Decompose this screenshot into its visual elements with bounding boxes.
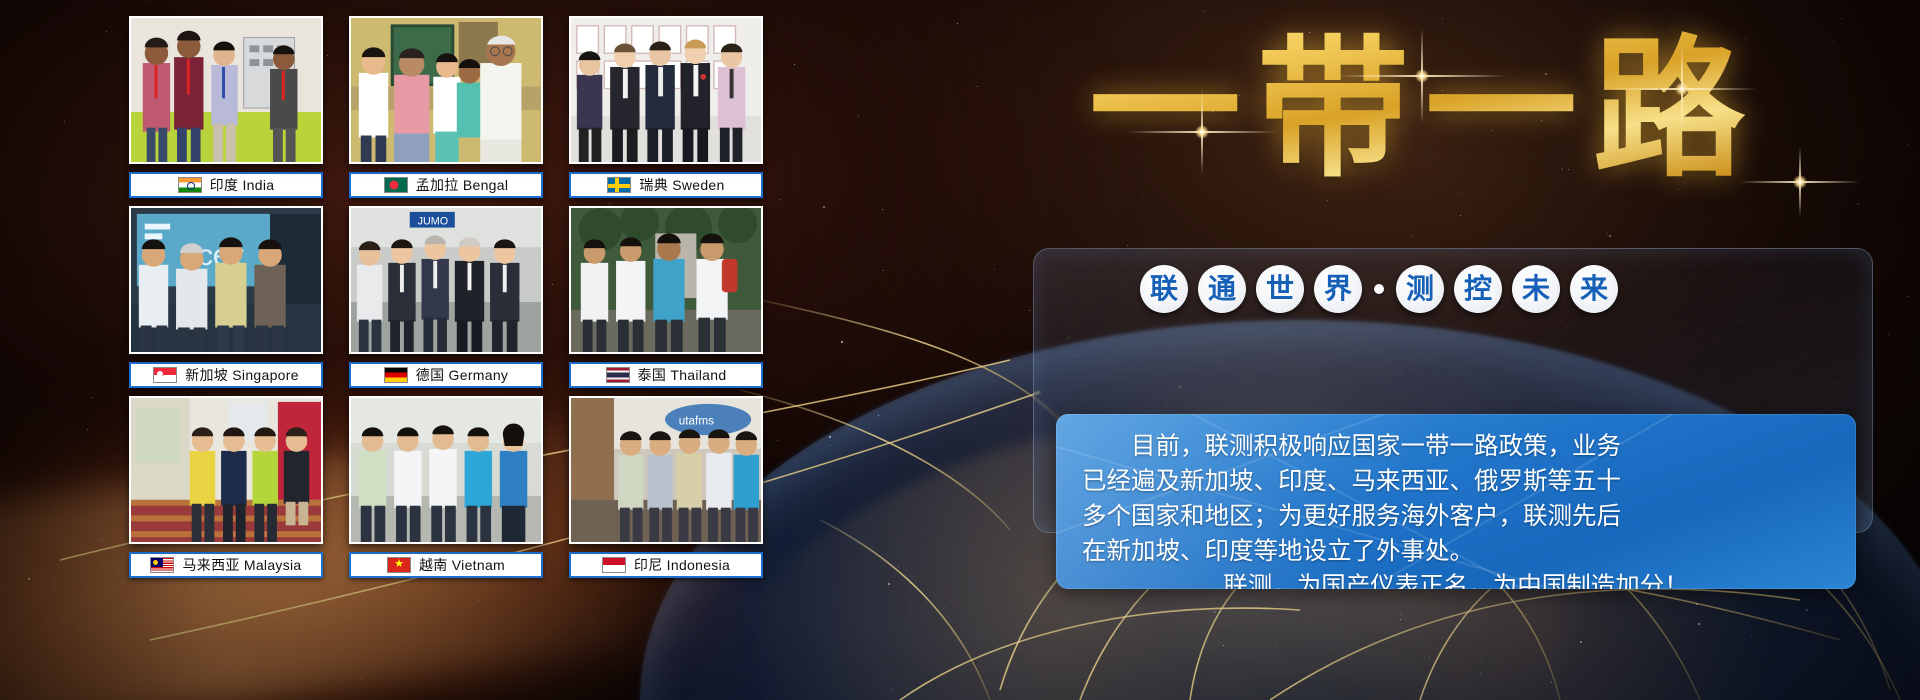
photo-singapore: ecev (129, 206, 323, 354)
caption-thailand[interactable]: 泰国 Thailand (569, 362, 763, 388)
slogan-chip: 控 (1454, 265, 1502, 313)
flag-thailand-icon (606, 367, 630, 383)
description-line-5: 联测，为国产仪表正名，为中国制造加分！ (1082, 568, 1830, 589)
flag-sweden-icon (607, 177, 631, 193)
gallery-item-singapore[interactable]: ecev 新加坡 Singapore (129, 206, 323, 396)
flag-bangladesh-icon (384, 177, 408, 193)
slogan-chip: 未 (1512, 265, 1560, 313)
flag-germany-icon (384, 367, 408, 383)
description-line-3: 多个国家和地区；为更好服务海外客户，联测先后 (1082, 498, 1830, 533)
photo-thailand (569, 206, 763, 354)
slogan-chip: 联 (1140, 265, 1188, 313)
caption-germany[interactable]: 德国 Germany (349, 362, 543, 388)
gallery-item-indonesia[interactable]: utafms 印尼 Indonesia (569, 396, 763, 586)
svg-text:JUMO: JUMO (418, 216, 448, 228)
flag-indonesia-icon (602, 557, 626, 573)
caption-label: 印度 India (210, 175, 275, 195)
slogan-chip: 世 (1256, 265, 1304, 313)
photo-indonesia: utafms (569, 396, 763, 544)
caption-india[interactable]: 印度 India (129, 172, 323, 198)
slogan-chip: 来 (1570, 265, 1618, 313)
svg-text:utafms: utafms (679, 414, 714, 427)
description-line-4: 在新加坡、印度等地设立了外事处。 (1082, 533, 1830, 568)
country-photo-grid: 印度 India 孟加拉 Bengal (129, 16, 763, 586)
gallery-item-india[interactable]: 印度 India (129, 16, 323, 206)
photo-sweden (569, 16, 763, 164)
flag-vietnam-icon (387, 557, 411, 573)
flag-singapore-icon (153, 367, 177, 383)
description-line-2: 已经遍及新加坡、印度、马来西亚、俄罗斯等五十 (1082, 463, 1830, 498)
caption-sweden[interactable]: 瑞典 Sweden (569, 172, 763, 198)
photo-malaysia (129, 396, 323, 544)
description-box: 目前，联测积极响应国家一带一路政策，业务 已经遍及新加坡、印度、马来西亚、俄罗斯… (1056, 414, 1856, 589)
flag-india-icon (178, 177, 202, 193)
photo-bengal (349, 16, 543, 164)
gallery-item-vietnam[interactable]: 越南 Vietnam (349, 396, 543, 586)
flag-malaysia-icon (150, 557, 174, 573)
photo-germany: JUMO (349, 206, 543, 354)
slogan-chip: 界 (1314, 265, 1362, 313)
gallery-item-sweden[interactable]: 瑞典 Sweden (569, 16, 763, 206)
description-line-1: 目前，联测积极响应国家一带一路政策，业务 (1082, 428, 1830, 463)
caption-label: 马来西亚 Malaysia (182, 555, 301, 575)
caption-label: 新加坡 Singapore (185, 365, 299, 385)
caption-label: 越南 Vietnam (419, 555, 505, 575)
caption-bengal[interactable]: 孟加拉 Bengal (349, 172, 543, 198)
caption-label: 瑞典 Sweden (639, 175, 724, 195)
photo-vietnam (349, 396, 543, 544)
gold-title-text: 一带一路 (1030, 14, 1820, 204)
gallery-item-germany[interactable]: JUMO 德国 Germany (349, 206, 543, 396)
caption-label: 德国 Germany (416, 365, 508, 385)
slogan-row: 联通世界测控未来 (1140, 265, 1618, 313)
caption-malaysia[interactable]: 马来西亚 Malaysia (129, 552, 323, 578)
caption-indonesia[interactable]: 印尼 Indonesia (569, 552, 763, 578)
slogan-chip: 通 (1198, 265, 1246, 313)
gallery-item-thailand[interactable]: 泰国 Thailand (569, 206, 763, 396)
gold-calligraphy-title: 一带一路 (1030, 14, 1820, 214)
photo-india (129, 16, 323, 164)
caption-label: 印尼 Indonesia (634, 555, 730, 575)
caption-singapore[interactable]: 新加坡 Singapore (129, 362, 323, 388)
gallery-item-bengal[interactable]: 孟加拉 Bengal (349, 16, 543, 206)
slogan-chip: 测 (1396, 265, 1444, 313)
caption-label: 泰国 Thailand (638, 365, 727, 385)
caption-label: 孟加拉 Bengal (416, 175, 508, 195)
gallery-item-malaysia[interactable]: 马来西亚 Malaysia (129, 396, 323, 586)
caption-vietnam[interactable]: 越南 Vietnam (349, 552, 543, 578)
slogan-separator-dot (1374, 284, 1384, 294)
